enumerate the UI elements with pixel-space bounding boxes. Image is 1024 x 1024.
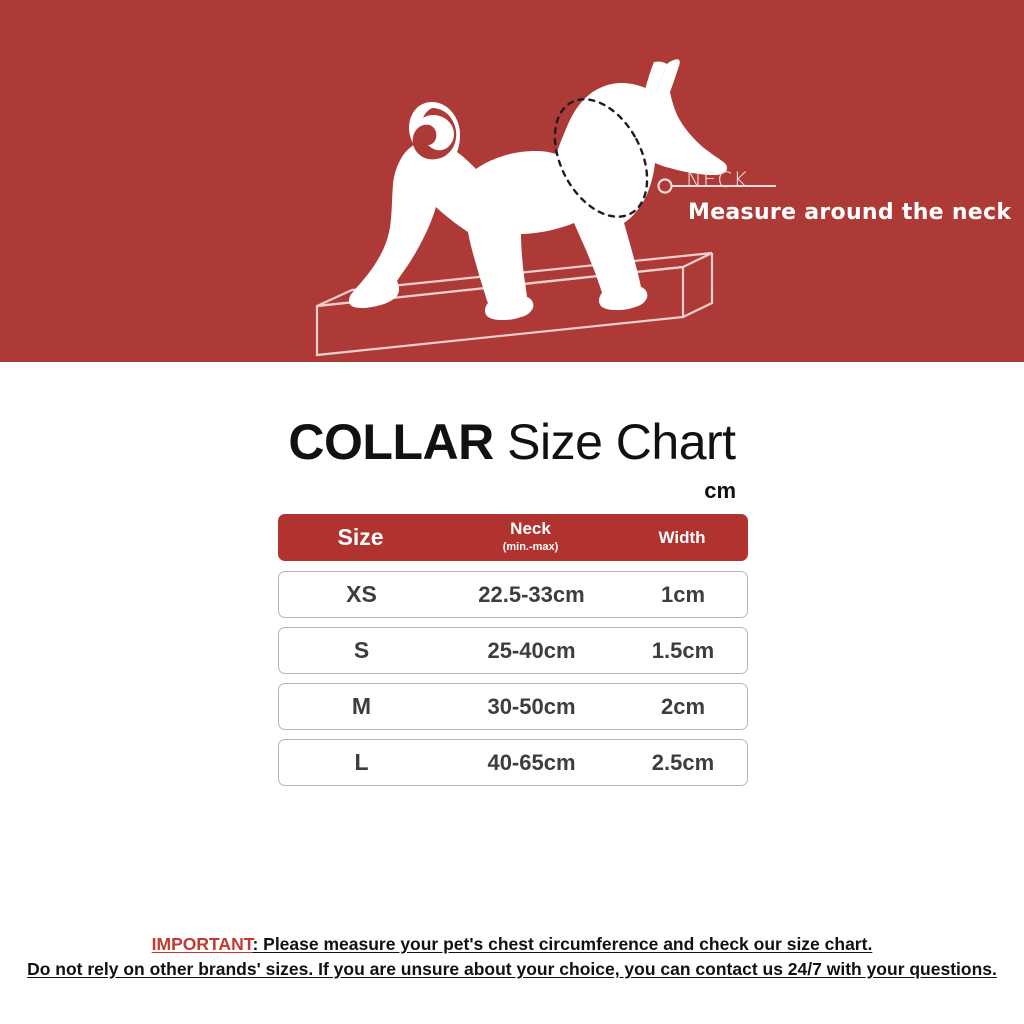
- header-cell-neck: Neck (min.-max): [443, 519, 618, 557]
- important-note-line-1-rest: : Please measure your pet's chest circum…: [252, 934, 872, 954]
- unit-label: cm: [0, 478, 736, 504]
- header-cell-neck-sub: (min.-max): [443, 538, 618, 557]
- page-title-regular: Size Chart: [494, 414, 736, 470]
- cell-size: XS: [279, 581, 444, 608]
- cell-width: 1cm: [619, 582, 747, 608]
- cell-neck: 40-65cm: [444, 750, 619, 776]
- table-row: M 30-50cm 2cm: [278, 683, 748, 730]
- header-cell-width: Width: [618, 528, 746, 548]
- neck-label: NECK: [686, 168, 748, 192]
- page-title-bold: COLLAR: [288, 414, 493, 470]
- cell-neck: 25-40cm: [444, 638, 619, 664]
- cell-size: L: [279, 749, 444, 776]
- important-note-line-1: IMPORTANT: Please measure your pet's che…: [0, 932, 1024, 957]
- cell-size: S: [279, 637, 444, 664]
- table-row: XS 22.5-33cm 1cm: [278, 571, 748, 618]
- page-title: COLLAR Size Chart: [0, 414, 1024, 470]
- neck-measure-point-icon: [659, 180, 672, 193]
- neck-instruction: Measure around the neck: [688, 200, 1011, 225]
- cell-width: 2cm: [619, 694, 747, 720]
- dog-illustration: [0, 0, 1024, 362]
- important-note: IMPORTANT: Please measure your pet's che…: [0, 932, 1024, 982]
- cell-size: M: [279, 693, 444, 720]
- cell-neck: 22.5-33cm: [444, 582, 619, 608]
- cell-width: 2.5cm: [619, 750, 747, 776]
- cell-neck: 30-50cm: [444, 694, 619, 720]
- table-header-row: Size Neck (min.-max) Width: [278, 514, 748, 561]
- header-cell-size: Size: [278, 524, 443, 551]
- header-cell-neck-main: Neck: [510, 519, 551, 538]
- size-chart-table: Size Neck (min.-max) Width XS 22.5-33cm …: [278, 514, 748, 795]
- hero-banner: NECK Measure around the neck: [0, 0, 1024, 362]
- table-row: L 40-65cm 2.5cm: [278, 739, 748, 786]
- important-label: IMPORTANT: [152, 934, 253, 954]
- cell-width: 1.5cm: [619, 638, 747, 664]
- important-note-line-2: Do not rely on other brands' sizes. If y…: [0, 957, 1024, 982]
- table-row: S 25-40cm 1.5cm: [278, 627, 748, 674]
